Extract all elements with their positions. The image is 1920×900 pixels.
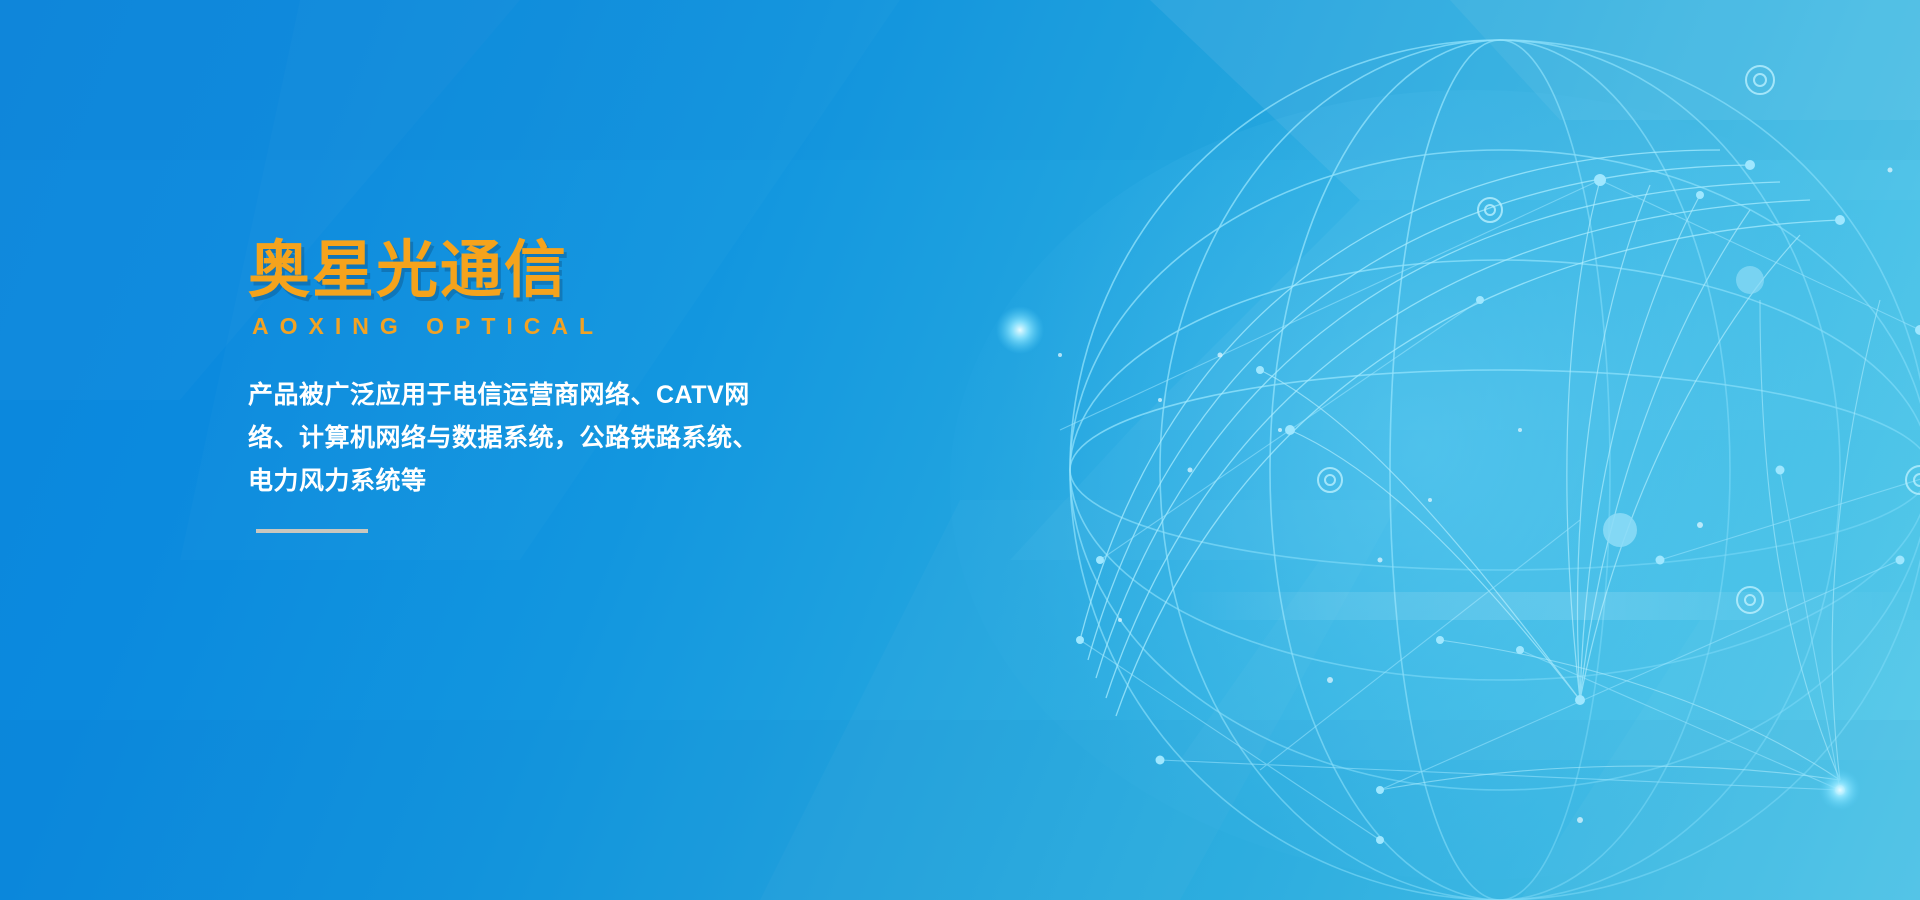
network-hub-node (1603, 513, 1637, 547)
banner-content: 奥星光通信 AOXING OPTICAL 产品被广泛应用于电信运营商网络、CAT… (248, 238, 948, 533)
brand-subtitle: AOXING OPTICAL (252, 313, 948, 340)
hero-banner: 奥星光通信 AOXING OPTICAL 产品被广泛应用于电信运营商网络、CAT… (0, 0, 1920, 900)
network-hub-node-bright (1819, 769, 1861, 811)
globe-svg (960, 0, 1920, 900)
brand-title: 奥星光通信 (248, 238, 948, 305)
network-hub-node-left (996, 306, 1044, 354)
accent-divider (256, 529, 368, 533)
light-streak (1180, 592, 1920, 620)
banner-description: 产品被广泛应用于电信运营商网络、CATV网络、计算机网络与数据系统，公路铁路系统… (248, 374, 768, 503)
light-bloom (950, 90, 1920, 880)
network-globe-graphic (960, 0, 1920, 900)
